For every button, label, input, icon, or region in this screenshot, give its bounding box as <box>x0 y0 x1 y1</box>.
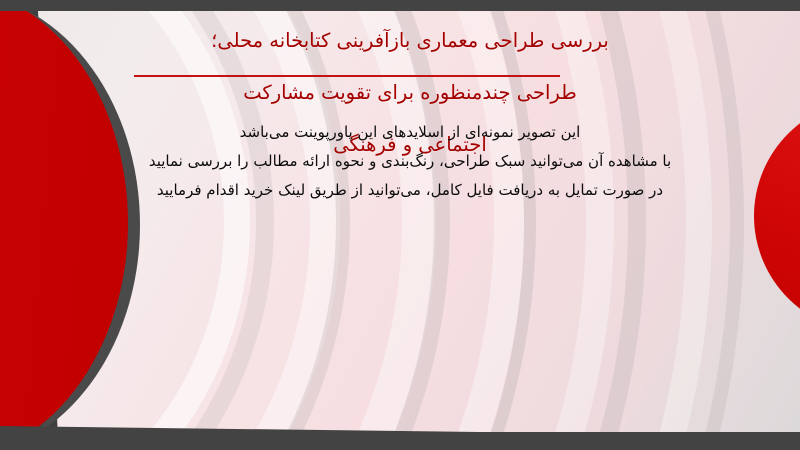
presentation-slide: بررسی طراحی معماری بازآفرینی کتابخانه مح… <box>0 0 800 450</box>
slide-title-line-1: بررسی طراحی معماری بازآفرینی کتابخانه مح… <box>211 29 609 52</box>
slide-title-line-2: طراحی چندمنظوره برای تقویت مشارکت <box>243 81 576 104</box>
title-divider-rule <box>134 75 560 77</box>
slide-body-text: این تصویر نمونه‌ای از اسلایدهای این پاور… <box>120 118 700 205</box>
body-line-2: با مشاهده آن می‌توانید سبک طراحی، رنگ‌بن… <box>120 147 700 176</box>
body-line-3: در صورت تمایل به دریافت فایل کامل، می‌تو… <box>120 176 700 205</box>
body-line-1: این تصویر نمونه‌ای از اسلایدهای این پاور… <box>120 118 700 147</box>
bottom-frame-band <box>0 432 800 450</box>
